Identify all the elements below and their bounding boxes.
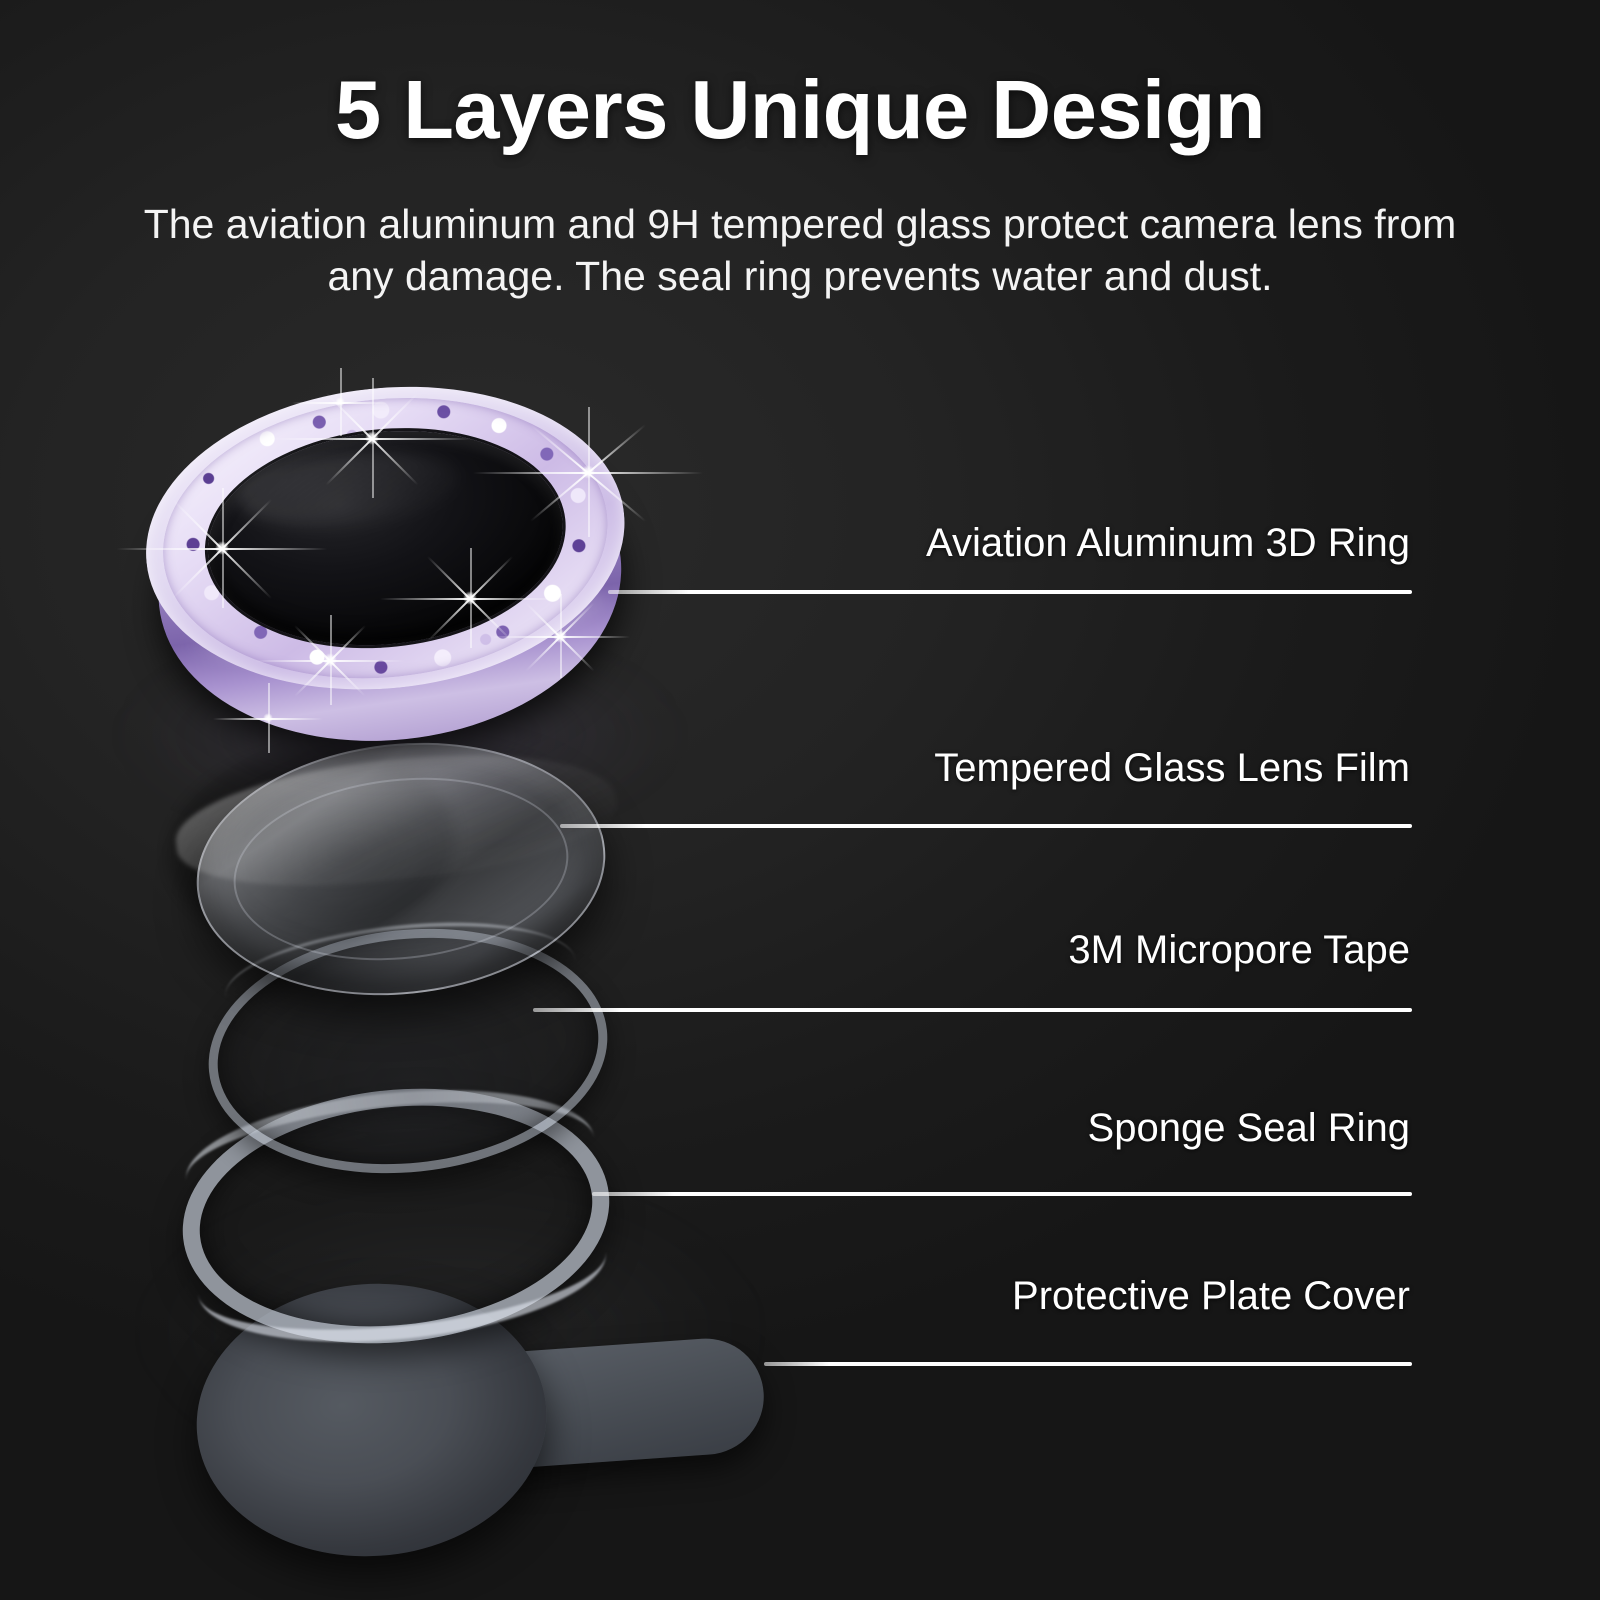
label-protective-plate-cover: Protective Plate Cover [1012,1274,1410,1319]
layer-aviation-aluminum-3d-ring [131,364,645,764]
label-sponge-seal-ring: Sponge Seal Ring [1088,1106,1410,1151]
leader-line-5 [764,1362,1412,1366]
leader-line-3 [533,1008,1412,1012]
leader-line-2 [560,824,1412,828]
exploded-layer-stack [0,0,900,1600]
product-infographic: 5 Layers Unique Design The aviation alum… [0,0,1600,1600]
layer-tempered-glass-lens-film [184,723,618,1014]
label-tempered-glass-lens-film: Tempered Glass Lens Film [934,746,1410,791]
leader-line-4 [592,1192,1412,1196]
leader-line-1 [608,590,1412,594]
label-aviation-aluminum-3d-ring: Aviation Aluminum 3D Ring [926,521,1410,566]
label-3m-micropore-tape: 3M Micropore Tape [1068,928,1410,973]
